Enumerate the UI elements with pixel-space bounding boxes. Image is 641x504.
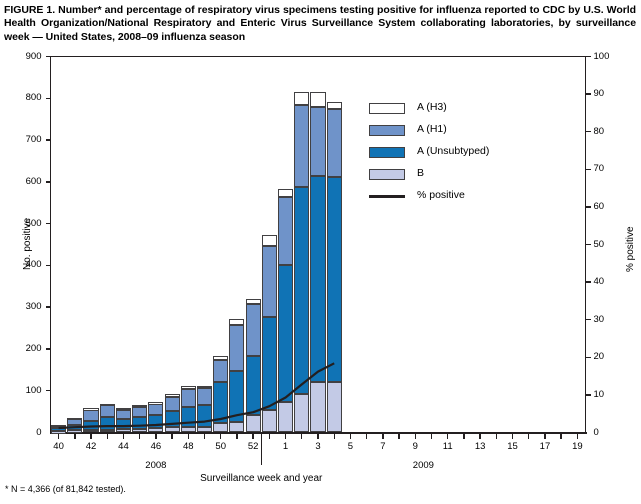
- x-tick: [301, 434, 302, 439]
- bar-segment: [83, 430, 98, 433]
- legend-color-swatch: [369, 147, 405, 158]
- bar-group: [197, 57, 212, 433]
- y-axis-label-right: 20: [594, 352, 628, 361]
- bar-segment: [229, 422, 244, 432]
- figure-page: FIGURE 1. Number* and percentage of resp…: [0, 0, 641, 504]
- bar-segment: [83, 421, 98, 430]
- y-tick-right: [586, 244, 591, 245]
- y-axis-label-right: 70: [594, 164, 628, 173]
- bar-group: [83, 57, 98, 433]
- bar-segment: [278, 265, 293, 403]
- bar-segment: [310, 107, 325, 176]
- bar-segment: [278, 189, 293, 197]
- bar-segment: [278, 402, 293, 432]
- legend-item-label: A (H3): [417, 101, 447, 113]
- y-axis-label-left: 300: [8, 302, 42, 311]
- x-axis-label: 42: [78, 442, 104, 452]
- bar-group: [294, 57, 309, 433]
- bar-segment: [83, 410, 98, 420]
- x-tick: [107, 434, 108, 439]
- x-axis-label: 13: [467, 442, 493, 452]
- y-tick-left: [46, 181, 51, 182]
- year-label-2008: 2008: [126, 460, 186, 471]
- x-tick: [139, 434, 140, 439]
- bar-segment: [51, 425, 66, 427]
- x-tick: [285, 434, 286, 439]
- bar-group: [67, 57, 82, 433]
- bar-segment: [229, 371, 244, 422]
- y-tick-right: [586, 56, 591, 57]
- bar-segment: [67, 430, 82, 432]
- y-tick-left: [46, 265, 51, 266]
- bar-segment: [213, 356, 228, 359]
- bar-group: [181, 57, 196, 433]
- bar-segment: [132, 405, 147, 407]
- y-tick-right: [586, 206, 591, 207]
- legend-item: A (Unsubtyped): [369, 144, 539, 160]
- y-tick-right: [586, 357, 591, 358]
- bar-segment: [148, 402, 163, 404]
- bar-segment: [327, 382, 342, 432]
- year-label-2009: 2009: [393, 460, 453, 471]
- y-axis-label-right: 60: [594, 202, 628, 211]
- y-axis-label-right: 50: [594, 240, 628, 249]
- bar-segment: [116, 410, 131, 419]
- x-tick: [544, 434, 545, 439]
- x-tick: [236, 434, 237, 439]
- bar-segment: [181, 386, 196, 389]
- y-axis-title-right: % positive: [625, 226, 636, 272]
- x-axis-label: 48: [175, 442, 201, 452]
- bar-segment: [132, 407, 147, 418]
- x-tick: [366, 434, 367, 439]
- x-tick: [155, 434, 156, 439]
- y-axis-label-right: 10: [594, 390, 628, 399]
- bar-group: [327, 57, 342, 433]
- x-axis-label: 46: [143, 442, 169, 452]
- x-tick: [220, 434, 221, 439]
- bar-segment: [310, 176, 325, 383]
- y-tick-right: [586, 319, 591, 320]
- bar-segment: [213, 423, 228, 432]
- bar-segment: [246, 356, 261, 414]
- bar-segment: [148, 415, 163, 429]
- bar-segment: [213, 360, 228, 382]
- y-tick-left: [46, 139, 51, 140]
- bar-segment: [246, 299, 261, 304]
- bar-segment: [100, 405, 115, 417]
- x-tick: [334, 434, 335, 439]
- bar-segment: [246, 415, 261, 433]
- bar-group: [246, 57, 261, 433]
- y-axis-label-left: 700: [8, 135, 42, 144]
- bar-segment: [181, 407, 196, 427]
- bar-segment: [262, 235, 277, 245]
- x-tick: [188, 434, 189, 439]
- x-tick: [496, 434, 497, 439]
- x-axis-label: 7: [370, 442, 396, 452]
- y-axis-label-left: 0: [8, 428, 42, 437]
- y-axis-label-left: 100: [8, 386, 42, 395]
- y-axis-label-right: 0: [594, 428, 628, 437]
- x-tick: [74, 434, 75, 439]
- bar-segment: [165, 394, 180, 397]
- x-tick: [398, 434, 399, 439]
- y-axis-label-right: 90: [594, 89, 628, 98]
- bar-segment: [165, 427, 180, 432]
- x-axis-label: 11: [435, 442, 461, 452]
- x-tick: [577, 434, 578, 439]
- y-tick-right: [586, 394, 591, 395]
- bar-segment: [181, 389, 196, 407]
- bar-segment: [148, 428, 163, 432]
- x-tick: [463, 434, 464, 439]
- bar-group: [213, 57, 228, 433]
- y-axis-label-right: 40: [594, 277, 628, 286]
- bar-segment: [197, 388, 212, 405]
- x-tick: [560, 434, 561, 439]
- x-axis-label: 40: [46, 442, 72, 452]
- y-axis-label-left: 900: [8, 52, 42, 61]
- x-tick: [350, 434, 351, 439]
- bar-segment: [165, 397, 180, 411]
- y-axis-title-left: No. positive: [22, 218, 33, 270]
- x-tick: [447, 434, 448, 439]
- x-tick: [317, 434, 318, 439]
- x-tick: [431, 434, 432, 439]
- y-tick-right: [586, 93, 591, 94]
- y-tick-left: [46, 348, 51, 349]
- x-axis-label: 9: [402, 442, 428, 452]
- x-axis-label: 17: [532, 442, 558, 452]
- bar-group: [165, 57, 180, 433]
- bar-segment: [181, 427, 196, 433]
- legend-item: A (H3): [369, 100, 539, 116]
- y-axis-label-right: 80: [594, 127, 628, 136]
- bar-segment: [116, 429, 131, 432]
- bar-segment: [51, 431, 66, 433]
- bar-segment: [229, 319, 244, 325]
- bar-group: [262, 57, 277, 433]
- bar-segment: [262, 317, 277, 410]
- bar-segment: [197, 386, 212, 389]
- y-axis-label-left: 200: [8, 344, 42, 353]
- y-tick-right: [586, 131, 591, 132]
- bar-segment: [132, 429, 147, 432]
- bar-group: [100, 57, 115, 433]
- bar-group: [132, 57, 147, 433]
- legend-item: B: [369, 166, 539, 182]
- y-axis-label-right: 30: [594, 315, 628, 324]
- bar-segment: [83, 408, 98, 410]
- y-tick-left: [46, 390, 51, 391]
- bar-segment: [327, 177, 342, 383]
- y-axis-label-left: 600: [8, 177, 42, 186]
- bar-segment: [262, 246, 277, 317]
- bar-segment: [100, 417, 115, 430]
- x-tick: [123, 434, 124, 439]
- y-axis-label-right: 100: [594, 52, 628, 61]
- y-tick-left: [46, 223, 51, 224]
- bar-segment: [294, 105, 309, 188]
- y-tick-left: [46, 306, 51, 307]
- x-axis-label: 44: [110, 442, 136, 452]
- bar-segment: [100, 430, 115, 433]
- x-tick: [415, 434, 416, 439]
- bar-group: [51, 57, 66, 433]
- x-axis-label: 50: [208, 442, 234, 452]
- x-tick: [479, 434, 480, 439]
- legend-item-label: A (H1): [417, 123, 447, 135]
- x-tick: [382, 434, 383, 439]
- legend-item: % positive: [369, 188, 539, 204]
- figure-footnote: * N = 4,366 (of 81,842 tested).: [5, 484, 126, 494]
- bar-segment: [116, 419, 131, 429]
- y-tick-right: [586, 169, 591, 170]
- x-axis-label: 15: [500, 442, 526, 452]
- y-tick-right: [586, 281, 591, 282]
- chart-plot-area: 0100200300400500600700800900010203040506…: [0, 0, 641, 504]
- x-axis-label: 3: [305, 442, 331, 452]
- bar-segment: [132, 417, 147, 429]
- bar-segment: [327, 102, 342, 110]
- bar-segment: [51, 428, 66, 431]
- bar-segment: [165, 411, 180, 428]
- bar-segment: [100, 404, 115, 406]
- bar-segment: [213, 382, 228, 424]
- bar-segment: [262, 410, 277, 433]
- x-tick: [171, 434, 172, 439]
- x-axis-label: 19: [564, 442, 590, 452]
- legend-item: A (H1): [369, 122, 539, 138]
- legend-color-swatch: [369, 125, 405, 136]
- x-tick: [512, 434, 513, 439]
- legend-line-swatch: [369, 195, 405, 198]
- y-axis-label-left: 800: [8, 93, 42, 102]
- bar-segment: [67, 418, 82, 420]
- x-tick: [252, 434, 253, 439]
- bar-segment: [310, 382, 325, 432]
- bar-segment: [278, 197, 293, 265]
- bar-segment: [67, 425, 82, 430]
- legend-item-label: A (Unsubtyped): [417, 145, 489, 157]
- x-axis-title: Surveillance week and year: [151, 473, 371, 484]
- bar-segment: [294, 394, 309, 432]
- bar-group: [310, 57, 325, 433]
- legend-item-label: B: [417, 167, 424, 179]
- bar-segment: [327, 109, 342, 177]
- bar-segment: [148, 404, 163, 414]
- x-tick: [90, 434, 91, 439]
- legend-color-swatch: [369, 103, 405, 114]
- bar-segment: [116, 408, 131, 410]
- y-tick-left: [46, 56, 51, 57]
- bar-group: [148, 57, 163, 433]
- bar-group: [278, 57, 293, 433]
- y-tick-left: [46, 98, 51, 99]
- bar-segment: [229, 325, 244, 371]
- x-axis-label: 52: [240, 442, 266, 452]
- bar-segment: [197, 427, 212, 433]
- bar-segment: [294, 187, 309, 394]
- x-axis-label: 1: [273, 442, 299, 452]
- bar-segment: [246, 304, 261, 356]
- legend-color-swatch: [369, 169, 405, 180]
- x-tick: [269, 434, 270, 439]
- bar-group: [229, 57, 244, 433]
- bar-segment: [310, 92, 325, 107]
- legend-item-label: % positive: [417, 189, 465, 201]
- bar-segment: [197, 405, 212, 427]
- bar-group: [116, 57, 131, 433]
- year-divider: [261, 434, 262, 465]
- x-tick: [204, 434, 205, 439]
- bar-segment: [294, 92, 309, 105]
- x-tick: [528, 434, 529, 439]
- x-axis-label: 5: [337, 442, 363, 452]
- x-tick: [58, 434, 59, 439]
